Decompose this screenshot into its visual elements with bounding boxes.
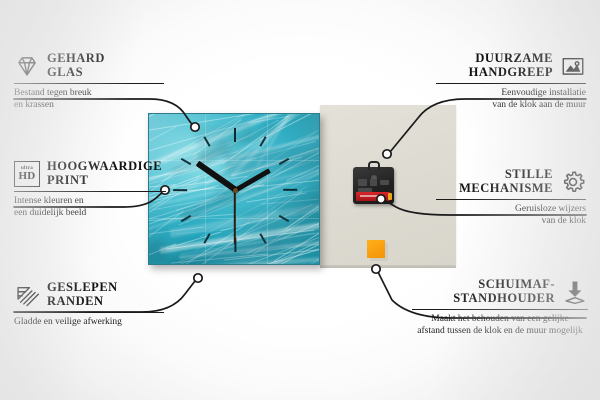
diamond-icon [14, 53, 40, 79]
feature-divider [412, 309, 588, 310]
feature-title-line2: PRINT [47, 174, 162, 188]
feature-divider [14, 191, 166, 192]
feature-divider [14, 312, 164, 313]
feature-desc-line1: Gladde en veilige afwerking [14, 317, 164, 329]
ultra-hd-icon-main-text: HD [19, 171, 36, 182]
feature-divider [14, 83, 164, 84]
connector-endpoint-gehard [191, 123, 199, 131]
connector-endpoint-standhouder [372, 265, 380, 273]
feature-desc-line2: een duidelijk beeld [14, 208, 166, 220]
feature-heading: SCHUIMAF- STANDHOUDER [412, 278, 588, 305]
feature-description: Bestand tegen breuk en krassen [14, 88, 164, 111]
feature-desc-line1: Intense kleuren en [14, 196, 166, 208]
feature-heading: STILLE MECHANISME [436, 168, 586, 195]
feature-stille-mechanisme: STILLE MECHANISME Geruisloze wijzers van… [436, 168, 586, 227]
feature-title-line2: MECHANISME [459, 182, 553, 196]
feature-description: Gladde en veilige afwerking [14, 317, 164, 329]
feature-title-line1: HOOGWAARDIGE [47, 160, 162, 174]
feature-description: Maakt het behouden van een gelijke afsta… [412, 314, 588, 337]
feature-heading: ultra HD HOOGWAARDIGE PRINT [14, 160, 166, 187]
feature-title-line1: DUURZAME [469, 52, 553, 66]
feature-description: Intense kleuren en een duidelijk beeld [14, 196, 166, 219]
feature-title: HOOGWAARDIGE PRINT [47, 160, 162, 187]
connector-endpoint-mechanisme [377, 195, 385, 203]
feature-title-line1: STILLE [459, 168, 553, 182]
feature-desc-line1: Maakt het behouden van een gelijke [412, 314, 588, 326]
feature-title-line2: GLAS [47, 66, 105, 80]
feature-title: SCHUIMAF- STANDHOUDER [453, 278, 555, 305]
feature-duurzame-handgreep: DUURZAME HANDGREEP Eenvoudige installati… [436, 52, 586, 111]
feature-gehard-glas: GEHARD GLAS Bestand tegen breuk en krass… [14, 52, 164, 111]
feature-divider [436, 199, 586, 200]
feature-schuimafstandhouder: SCHUIMAF- STANDHOUDER Maakt het behouden… [412, 278, 588, 337]
feature-title: DUURZAME HANDGREEP [469, 52, 553, 79]
feature-desc-line2: en krassen [14, 100, 164, 112]
feature-title-line2: RANDEN [47, 295, 118, 309]
feature-hoogwaardige-print: ultra HD HOOGWAARDIGE PRINT Intense kleu… [14, 160, 166, 219]
connector-endpoint-randen [194, 274, 202, 282]
stack-press-down-icon [562, 279, 588, 305]
feature-heading: GEHARD GLAS [14, 52, 164, 79]
feature-title: GEHARD GLAS [47, 52, 105, 79]
feature-description: Eenvoudige installatie van de klok aan d… [436, 88, 586, 111]
feature-desc-line2: van de klok [436, 216, 586, 228]
feature-title: STILLE MECHANISME [459, 168, 553, 195]
feature-desc-line2: afstand tussen de klok en de muur mogeli… [412, 326, 588, 338]
feature-heading: GESLEPEN RANDEN [14, 281, 164, 308]
feature-title-line2: STANDHOUDER [453, 292, 555, 306]
feature-desc-line1: Eenvoudige installatie [436, 88, 586, 100]
feature-title: GESLEPEN RANDEN [47, 281, 118, 308]
feature-desc-line2: van de klok aan de muur [436, 100, 586, 112]
polished-edges-icon [14, 282, 40, 308]
feature-desc-line1: Bestand tegen breuk [14, 88, 164, 100]
feature-description: Geruisloze wijzers van de klok [436, 204, 586, 227]
infographic-canvas: GEHARD GLAS Bestand tegen breuk en krass… [0, 0, 600, 400]
feature-desc-line1: Geruisloze wijzers [436, 204, 586, 216]
feature-divider [436, 83, 586, 84]
feature-heading: DUURZAME HANDGREEP [436, 52, 586, 79]
framed-picture-icon [560, 53, 586, 79]
feature-title-line1: SCHUIMAF- [453, 278, 555, 292]
gear-icon [560, 169, 586, 195]
connector-endpoint-handgreep [383, 150, 391, 158]
feature-title-line2: HANDGREEP [469, 66, 553, 80]
feature-title-line1: GESLEPEN [47, 281, 118, 295]
feature-geslepen-randen: GESLEPEN RANDEN Gladde en veilige afwerk… [14, 281, 164, 329]
ultra-hd-icon: ultra HD [14, 161, 40, 187]
feature-title-line1: GEHARD [47, 52, 105, 66]
